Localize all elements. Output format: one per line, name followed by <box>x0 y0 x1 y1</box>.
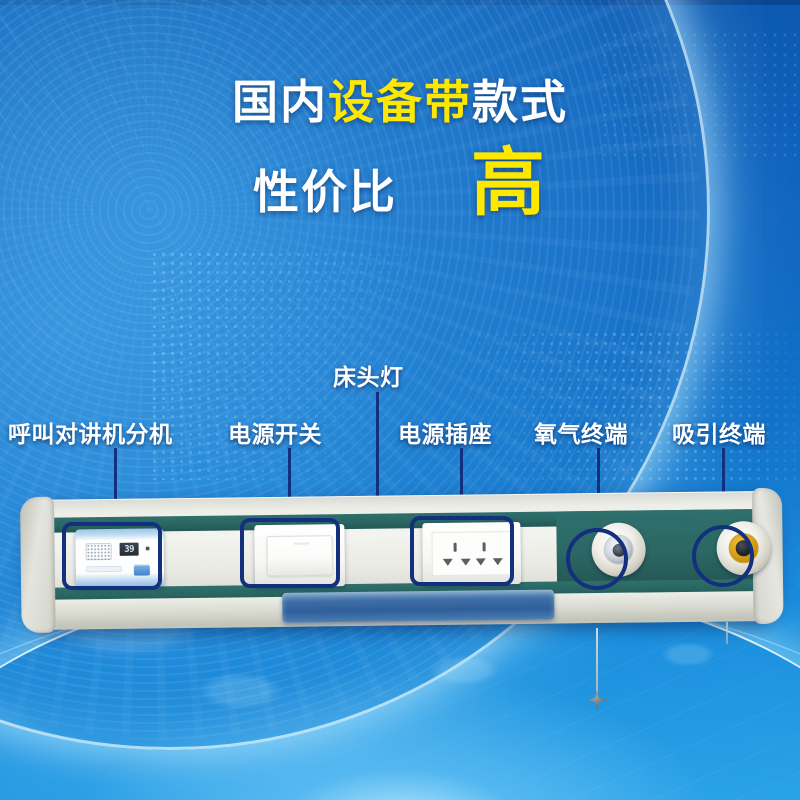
highlight-power-socket <box>410 516 514 586</box>
headline-line1-accent: 设备带 <box>328 76 472 128</box>
headline-line2-accent: 高 <box>471 150 547 217</box>
callout-power-switch-label: 电源开关 <box>228 415 322 449</box>
product-banner: 国内设备带款式 性价比 高 呼叫对讲机分机 电源开关 床头灯 电源插座 氧气终端… <box>0 0 800 800</box>
callout-power-socket-label: 电源插座 <box>398 415 492 449</box>
headline-line1-part2: 款式 <box>472 76 568 128</box>
headline-line2-white: 性价比 <box>253 156 397 222</box>
highlight-intercom <box>62 522 162 590</box>
halftone-dots-right <box>430 330 800 480</box>
callout-intercom-label: 呼叫对讲机分机 <box>8 415 173 449</box>
highlight-oxygen-terminal <box>566 528 628 590</box>
headline-block: 国内设备带款式 性价比 高 <box>0 78 800 222</box>
highlight-suction-terminal <box>692 525 754 587</box>
headline-line-2: 性价比 高 <box>0 150 800 222</box>
callout-bed-lamp-label: 床头灯 <box>333 358 404 392</box>
headline-line-1: 国内设备带款式 <box>0 78 800 128</box>
callout-suction-terminal-label: 吸引终端 <box>672 415 766 449</box>
bed-lamp-strip[interactable] <box>282 590 554 623</box>
highlight-power-switch <box>240 518 340 588</box>
suction-hose-cord <box>726 622 728 644</box>
oxygen-hose-cord <box>596 628 598 698</box>
callout-oxygen-terminal-label: 氧气终端 <box>534 415 628 449</box>
headline-line1-part1: 国内 <box>232 76 328 128</box>
panel-end-cap-left <box>20 497 56 633</box>
